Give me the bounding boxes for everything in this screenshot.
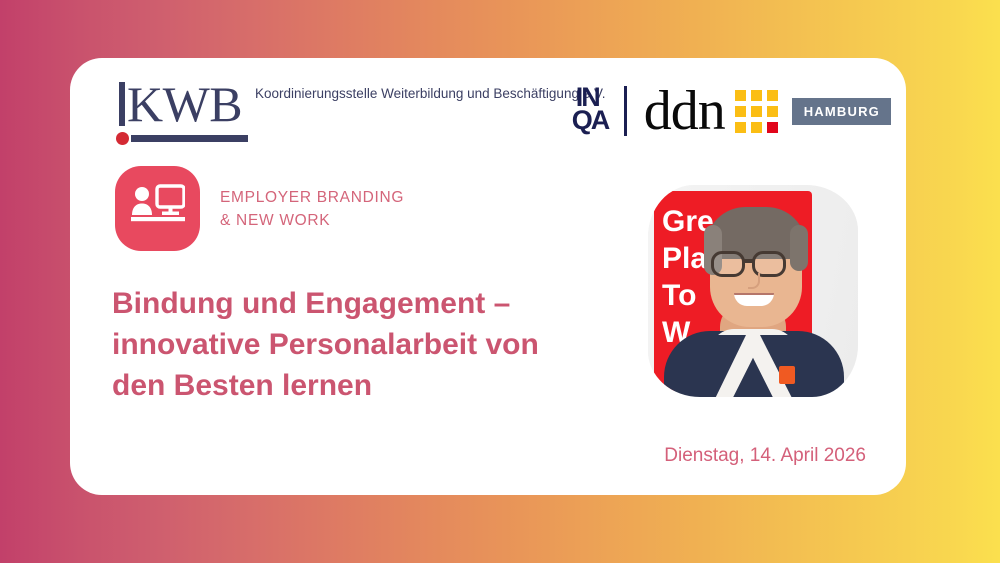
category-label: EMPLOYER BRANDING & NEW WORK	[220, 186, 404, 232]
inqa-divider-icon	[624, 86, 627, 136]
kwb-underline-rule	[131, 135, 248, 142]
logo-row: KWB Koordinierungsstelle Weiterbildung u…	[70, 58, 906, 168]
person-at-computer-glyph	[131, 184, 185, 232]
person-at-computer-icon	[115, 166, 200, 251]
ddn-wordmark: ddn	[644, 85, 725, 137]
kwb-logo-mark: KWB	[115, 78, 250, 148]
portrait-hair-side-right	[790, 225, 808, 271]
ddn-cell	[751, 122, 762, 133]
hamburg-badge: HAMBURG	[792, 98, 891, 125]
ddn-cell	[751, 90, 762, 101]
ddn-cell	[751, 106, 762, 117]
ddn-cell	[735, 90, 746, 101]
ddn-dot-grid-icon	[735, 90, 778, 133]
ddn-cell	[767, 106, 778, 117]
partner-logos: IN QA ddn HAMBURG	[572, 80, 891, 142]
ddn-cell	[735, 106, 746, 117]
kwb-wordmark: KWB	[127, 73, 242, 135]
portrait-glasses-left	[711, 251, 745, 277]
portrait-lapel-pin	[779, 366, 795, 384]
ddn-cell-accent	[767, 122, 778, 133]
kwb-logo: KWB Koordinierungsstelle Weiterbildung u…	[115, 78, 385, 148]
slide-root: { "background": { "gradient_from": "#c24…	[0, 0, 1000, 563]
category-block: EMPLOYER BRANDING & NEW WORK	[115, 166, 404, 251]
ddn-cell	[735, 122, 746, 133]
page-title: Bindung und Engagement – innovative Pers…	[112, 283, 622, 406]
inqa-logo: IN QA	[572, 84, 632, 138]
speaker-portrait: Gre Pla To W	[648, 185, 858, 397]
event-date: Dienstag, 14. April 2026	[664, 445, 866, 467]
content-card: KWB Koordinierungsstelle Weiterbildung u…	[70, 58, 906, 495]
portrait-sign-text: Gre Pla To W	[662, 203, 714, 351]
kwb-bar-icon	[119, 82, 125, 126]
portrait-glasses-bridge	[744, 259, 754, 263]
inqa-line-2: QA	[572, 107, 609, 134]
kwb-tagline: Koordinierungsstelle Weiterbildung und B…	[255, 84, 606, 104]
kwb-red-dot-icon	[116, 132, 129, 145]
ddn-cell	[767, 90, 778, 101]
